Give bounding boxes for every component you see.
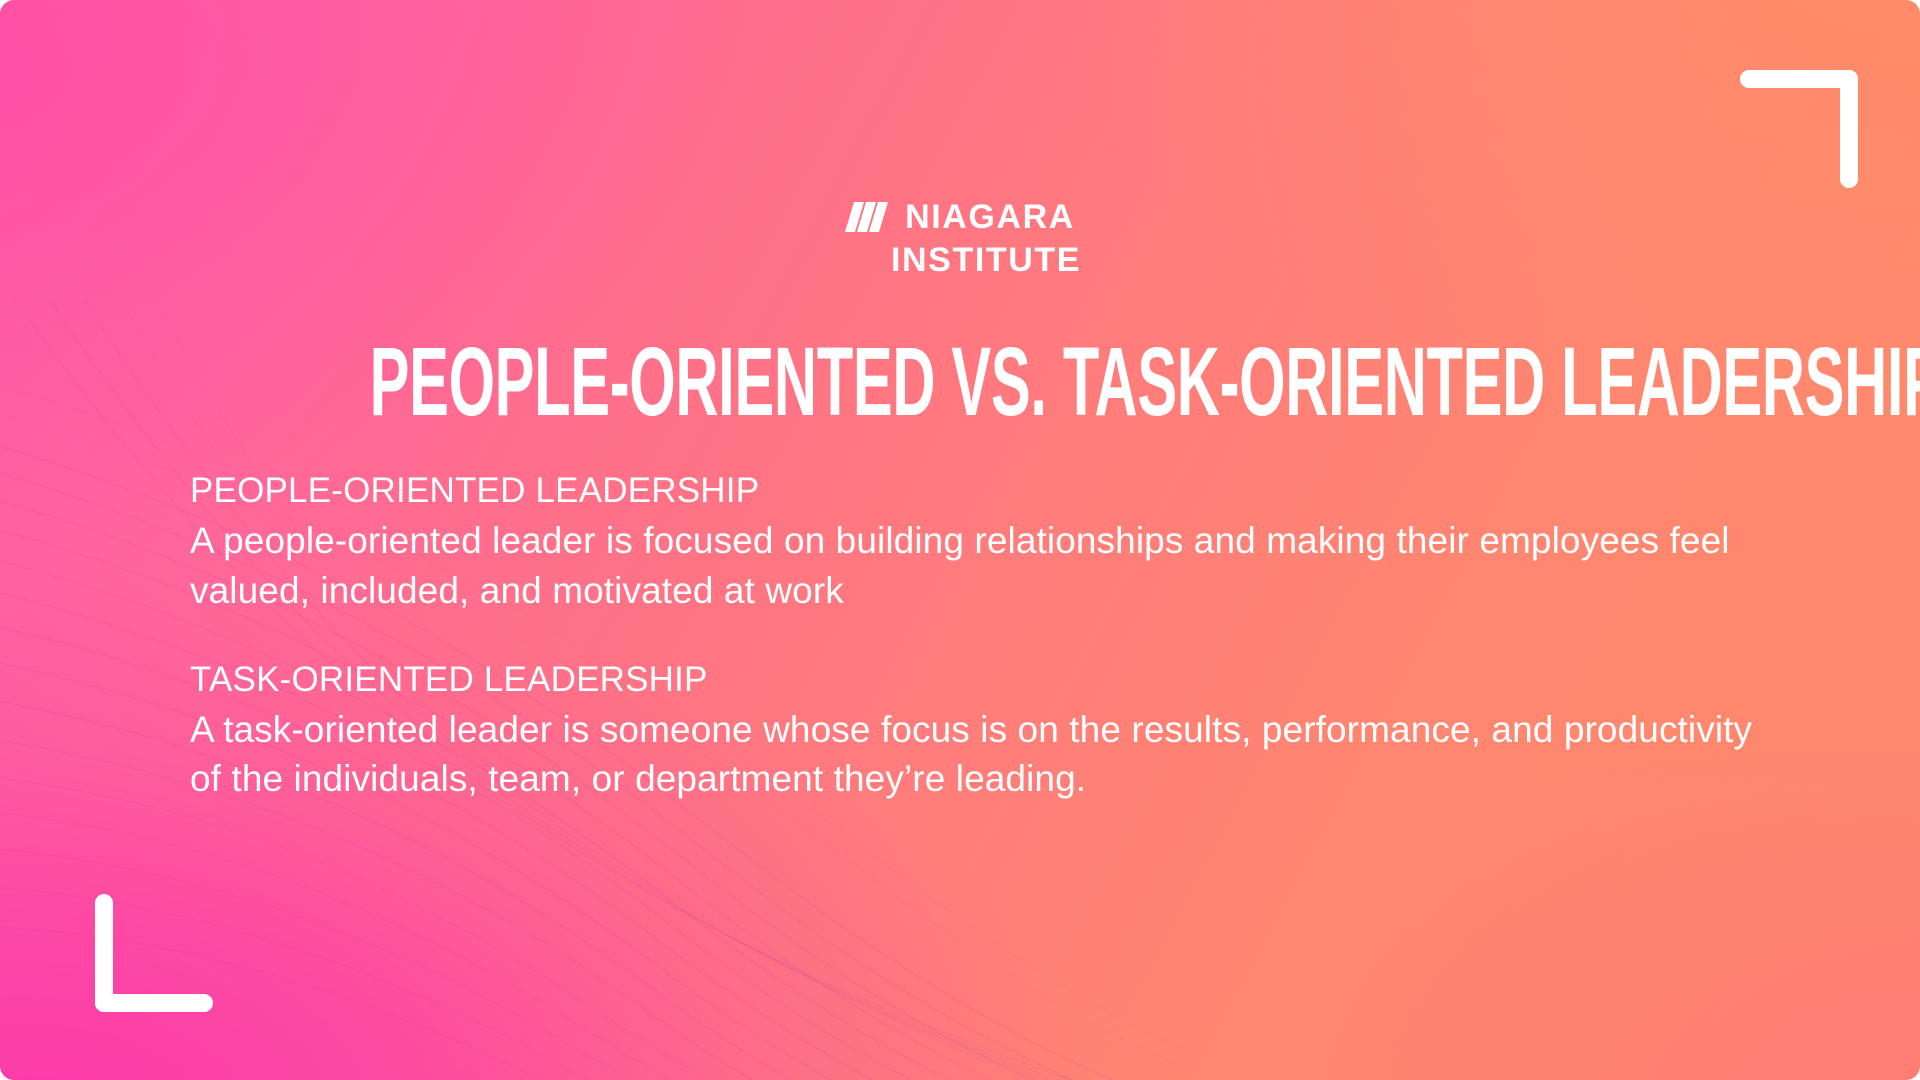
logo-primary-row: NIAGARA — [845, 200, 1075, 234]
slide-canvas: NIAGARA INSTITUTE PEOPLE-ORIENTED VS. TA… — [0, 0, 1920, 1080]
brand-name-primary: NIAGARA — [905, 200, 1075, 234]
brand-name-secondary: INSTITUTE — [891, 243, 1081, 277]
section-people-oriented: PEOPLE-ORIENTED LEADERSHIP A people-orie… — [190, 470, 1790, 615]
section-paragraph: A task-oriented leader is someone whose … — [190, 705, 1790, 803]
section-heading: PEOPLE-ORIENTED LEADERSHIP — [190, 470, 1790, 511]
niagara-slash-mark-icon — [845, 202, 889, 232]
content-body: PEOPLE-ORIENTED LEADERSHIP A people-orie… — [190, 470, 1790, 803]
page-title: PEOPLE-ORIENTED VS. TASK-ORIENTED LEADER… — [370, 333, 1551, 432]
brand-logo: NIAGARA INSTITUTE — [0, 200, 1920, 277]
section-heading: TASK-ORIENTED LEADERSHIP — [190, 659, 1790, 700]
section-paragraph: A people-oriented leader is focused on b… — [190, 516, 1790, 614]
section-task-oriented: TASK-ORIENTED LEADERSHIP A task-oriented… — [190, 659, 1790, 804]
